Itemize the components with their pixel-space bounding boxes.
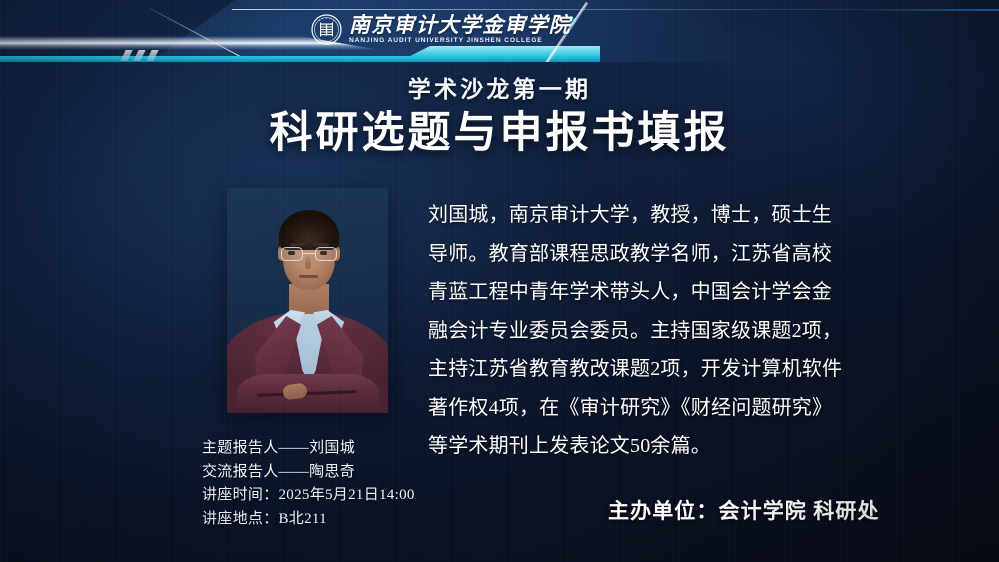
poster-canvas: 南京审计大学金审学院 NANJING AUDIT UNIVERSITY JINS… [0, 0, 999, 562]
event-title: 科研选题与申报书填报 [0, 108, 999, 160]
discussion-speaker-line: 交流报告人——陶思奇 [202, 461, 415, 485]
bio-line: 刘国城，南京审计大学，教授，博士，硕士生 [428, 196, 884, 235]
university-logo: 南京审计大学金审学院 NANJING AUDIT UNIVERSITY JINS… [311, 14, 571, 45]
event-subtitle: 学术沙龙第一期 [0, 76, 999, 103]
right-hairline-accent [859, 9, 999, 11]
logo-name-en: NANJING AUDIT UNIVERSITY JINSHEN COLLEGE [349, 37, 571, 45]
bio-line: 青蓝工程中青年学术带头人，中国会计学会金 [428, 273, 884, 312]
logo-text-block: 南京审计大学金审学院 NANJING AUDIT UNIVERSITY JINS… [349, 15, 571, 45]
cyan-accent-bar [0, 46, 640, 62]
keynote-speaker-line: 主题报告人——刘国城 [202, 437, 415, 461]
event-location-line: 讲座地点：B北211 [202, 508, 415, 532]
university-seal-icon [311, 14, 342, 45]
event-details: 主题报告人——刘国城 交流报告人——陶思奇 讲座时间：2025年5月21日14:… [202, 437, 415, 531]
cyan-bar-segment [0, 46, 600, 62]
bio-line: 等学术期刊上发表论文50余篇。 [428, 427, 884, 466]
bio-line: 主持江苏省教育教改课题2项，开发计算机软件 [428, 350, 884, 389]
bio-line: 著作权4项，在《审计研究》《财经问题研究》 [428, 389, 884, 428]
cyan-riser-diagonal [570, 0, 690, 62]
event-time-line: 讲座时间：2025年5月21日14:00 [202, 484, 415, 508]
speaker-bio: 刘国城，南京审计大学，教授，博士，硕士生 导师。教育部课程思政教学名师，江苏省高… [428, 196, 884, 466]
bio-line: 导师。教育部课程思政教学名师，江苏省高校 [428, 235, 884, 274]
organizer-line: 主办单位：会计学院 科研处 [608, 498, 880, 525]
speaker-portrait-photo [227, 188, 388, 413]
accent-tick-marks [123, 50, 183, 62]
logo-name-cn: 南京审计大学金审学院 [349, 15, 571, 36]
bio-line: 融会计专业委员会委员。主持国家级课题2项， [428, 312, 884, 351]
